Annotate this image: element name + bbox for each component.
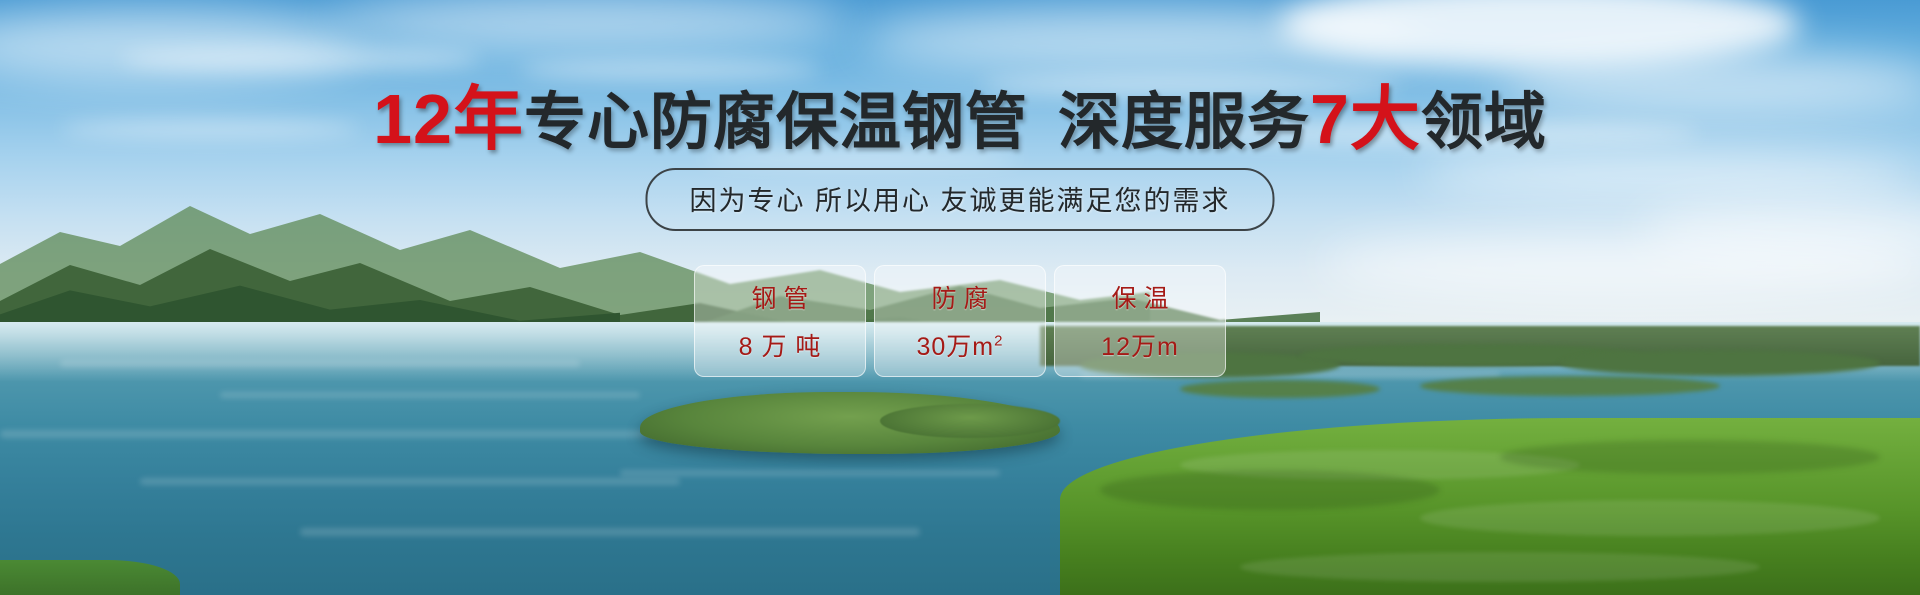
subtitle-pill: 因为专心 所以用心 友诚更能满足您的需求 [645,168,1274,231]
grass-shadow [1500,440,1880,474]
stat-card-anticorrosion[interactable]: 防腐 30万m2 [874,265,1046,377]
grass-shadow [1100,470,1440,510]
stat-card-label: 保温 [1104,279,1175,315]
water-streak [60,360,580,367]
stat-card-insulation[interactable]: 保温 12万m [1054,265,1226,377]
water-streak [0,430,660,438]
promo-banner: 12年专心防腐保温钢管深度服务7大领域 因为专心 所以用心 友诚更能满足您的需求… [0,0,1920,595]
headline-years-number: 12 [373,80,453,158]
headline-fields-text: 领域 [1421,88,1547,157]
grass-texture [1240,552,1760,582]
marsh-patch [1560,350,1880,376]
page-title: 12年专心防腐保温钢管深度服务7大领域 [0,84,1920,154]
stat-card-value: 12万m [1101,327,1179,363]
headline-fields-number: 7 [1310,80,1350,158]
stat-card-steel-pipe[interactable]: 钢管 8 万 吨 [694,265,866,377]
stat-card-label: 钢管 [744,279,815,315]
stat-card-value-main: 12万m [1101,333,1179,361]
grass-texture [1420,500,1880,536]
headline-main-text: 专心防腐保温钢管 [524,88,1028,157]
stats-card-group: 钢管 8 万 吨 防腐 30万m2 保温 12万m [694,265,1226,377]
stat-card-value: 30万m2 [917,327,1004,363]
stat-card-label: 防腐 [924,279,995,315]
marsh-patch [1180,380,1380,398]
stat-card-value-main: 8 万 吨 [739,333,822,361]
water-streak [140,478,680,485]
stat-card-value: 8 万 吨 [739,327,822,363]
headline-service-text: 深度服务 [1058,88,1310,157]
water-streak [620,470,1000,476]
grass-foreground-left [0,560,180,595]
headline-years-unit: 年 [453,80,524,158]
stat-card-value-superscript: 2 [994,333,1003,350]
water-streak [300,528,920,536]
headline-fields-unit: 大 [1350,80,1421,158]
stat-card-value-main: 30万m [917,333,995,361]
marsh-patch [1420,376,1720,396]
water-streak [220,392,640,398]
island-small [880,404,1060,438]
